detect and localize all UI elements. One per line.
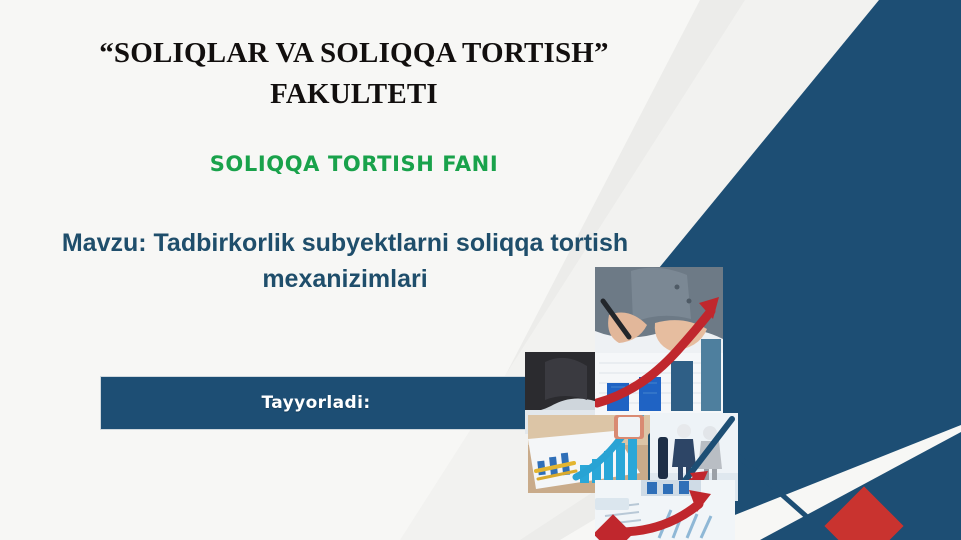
photo-collage — [510, 255, 750, 540]
subject-subtitle: SOLIQQA TORTISH FANI — [18, 152, 690, 176]
photo-writing-with-growth-chart — [595, 267, 723, 419]
photo-pens-document-red-arrow — [595, 480, 735, 540]
presentation-slide: “SOLIQLAR VA SOLIQQA TORTISH” FAKULTETI … — [0, 0, 961, 540]
prepared-by-label: Tayyorladi: — [261, 393, 370, 413]
prepared-by-banner: Tayyorladi: — [100, 376, 560, 430]
page-title: “SOLIQLAR VA SOLIQQA TORTISH” FAKULTETI — [18, 33, 690, 115]
